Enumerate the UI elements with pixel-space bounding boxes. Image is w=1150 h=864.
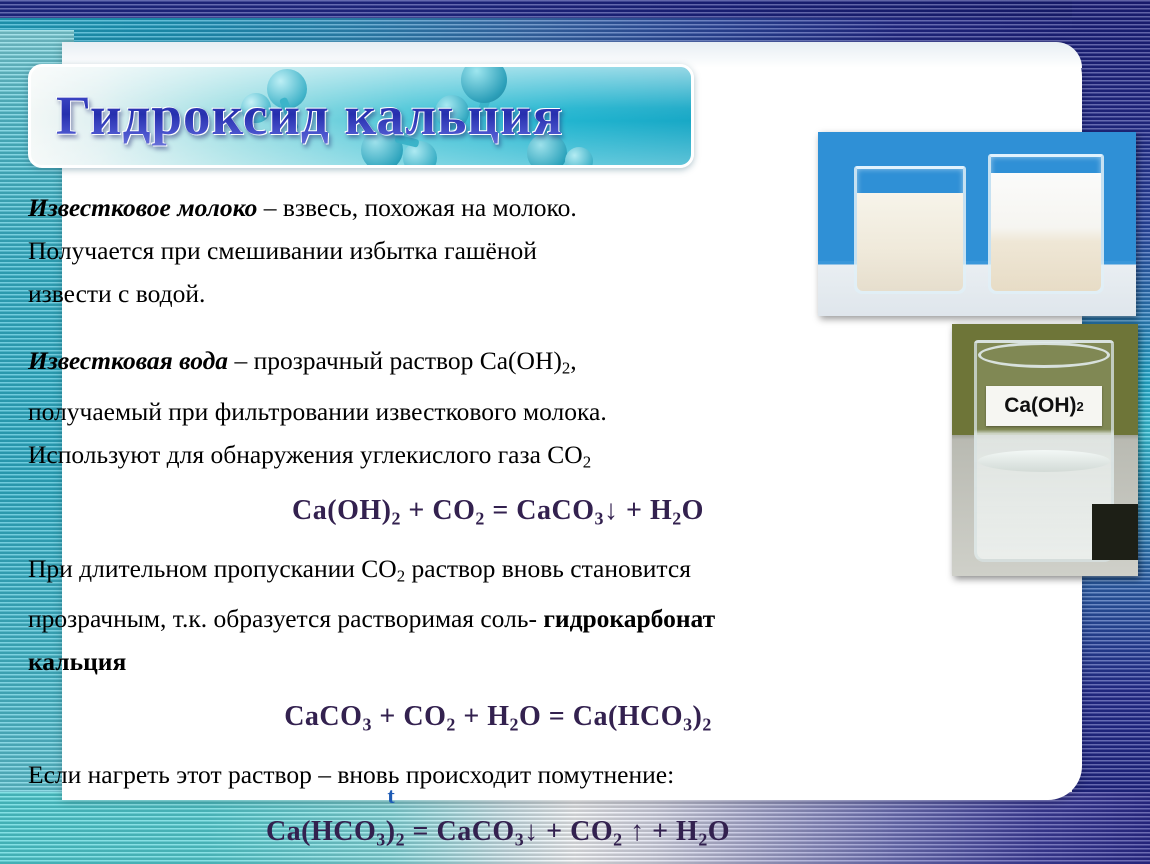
equation-1-content: Ca(OH)2 + CO2 = CaCO3↓ + H2O xyxy=(292,495,704,526)
paragraph-heating: Если нагреть этот раствор – вновь происх… xyxy=(28,753,958,796)
para1-line2: Получается при смешивании избытка гашёно… xyxy=(28,229,958,272)
term-bicarbonate: гидрокарбонат xyxy=(543,604,715,633)
paragraph-lime-milk: Известковое молоко – взвесь, похожая на … xyxy=(28,186,958,315)
para3-text-b: раствор вновь становится xyxy=(405,554,691,583)
equation-1: Ca(OH)2 + CO2 = CaCO3↓ + H2O xyxy=(28,489,958,540)
term-bicarbonate-2: кальция xyxy=(28,640,958,683)
paragraph-line: прозрачным, т.к. образуется растворимая … xyxy=(28,597,958,640)
para2-line2: получаемый при фильтровании известкового… xyxy=(28,390,958,433)
page-title: Гидроксид кальция xyxy=(56,72,676,160)
photo-calcium-hydroxide-solution: Ca(OH)2 xyxy=(952,324,1138,576)
para3-sub-a: 2 xyxy=(397,566,405,585)
para2-sub-b: 2 xyxy=(583,452,591,471)
beaker-right xyxy=(988,154,1104,294)
beaker-label-subscript: 2 xyxy=(1077,399,1084,414)
para1-line1: – взвесь, похожая на молоко. xyxy=(257,193,576,222)
equation-2: CaCO3 + CO2 + H2O = Ca(HCO3)2 xyxy=(28,695,958,746)
para3-text-a: При длительном пропускании CO xyxy=(28,554,397,583)
body-text-container: Известковое молоко – взвесь, похожая на … xyxy=(28,186,958,864)
paragraph-limewater: Известковая вода – прозрачный раствор Ca… xyxy=(28,339,958,483)
paragraph-line: При длительном пропускании CO2 раствор в… xyxy=(28,547,958,598)
slide-root: Гидроксид кальция Ca(OH)2 Известковое мо… xyxy=(0,0,1150,864)
liquid-surface xyxy=(978,450,1110,472)
equation-3: t Ca(HCO3)2 = CaCO3↓ + CO2 ↑ + H2O xyxy=(28,810,958,861)
equation-3-content: t Ca(HCO3)2 = CaCO3↓ + CO2 ↑ + H2O xyxy=(266,810,730,861)
para2-line3a: Используют для обнаружения углекислого г… xyxy=(28,440,583,469)
beaker-rim xyxy=(978,342,1110,368)
para3-line2a: прозрачным, т.к. образуется растворимая … xyxy=(28,604,543,633)
para2-text-a: – прозрачный раствор Ca(OH) xyxy=(228,346,562,375)
para1-line3: извести с водой. xyxy=(28,272,958,315)
paragraph-prolonged-co2: При длительном пропускании CO2 раствор в… xyxy=(28,547,958,684)
beaker-label: Ca(OH)2 xyxy=(986,386,1102,426)
para4-line: Если нагреть этот раствор – вновь происх… xyxy=(28,753,958,796)
top-navy-strip xyxy=(0,0,1150,18)
paragraph-line: Используют для обнаружения углекислого г… xyxy=(28,433,958,484)
paragraph-line: Известковая вода – прозрачный раствор Ca… xyxy=(28,339,958,390)
photo-dark-corner xyxy=(1092,504,1138,560)
para2-text-a-tail: , xyxy=(570,346,576,375)
beaker-label-formula: Ca(OH) xyxy=(1004,394,1076,418)
heat-marker-t: t xyxy=(387,785,395,807)
equation-2-content: CaCO3 + CO2 + H2O = Ca(HCO3)2 xyxy=(284,701,712,732)
term-lime-milk: Известковое молоко xyxy=(28,193,257,222)
beaker-right-liquid xyxy=(991,173,1101,291)
paragraph-line: Известковое молоко – взвесь, похожая на … xyxy=(28,186,958,229)
term-limewater: Известковая вода xyxy=(28,346,228,375)
spacer xyxy=(28,315,958,339)
